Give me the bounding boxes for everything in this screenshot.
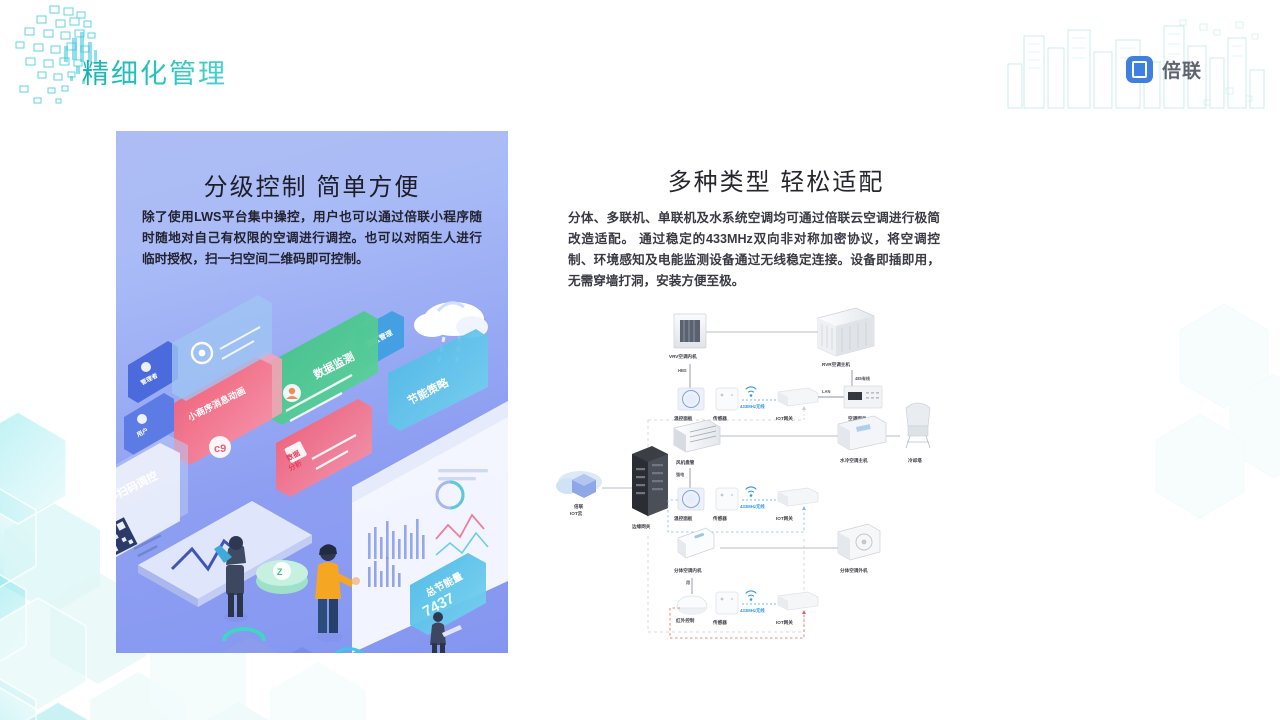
vrv-outdoor-unit: RVR空调主机 (818, 308, 874, 368)
right-panel-body: 分体、多联机、单联机及水系统空调均可通过倍联云空调进行极简改造适配。 通过稳定的… (568, 208, 940, 292)
split-indoor-unit: 分体空调内机 (674, 528, 714, 574)
fcu-iot-label: IOT网关 (776, 515, 793, 522)
brand-logo: 倍联 (1126, 56, 1202, 83)
split-wireless-label: 433MHz无线 (740, 607, 765, 614)
row-fcu: 风机盘管 水冷空调主机 冷却塔 强电 (668, 403, 930, 532)
cloud-label-line1: 倍联 (573, 503, 584, 510)
split-outdoor-label: 分体空调外机 (840, 567, 868, 574)
split-wireless: 433MHz无线 (740, 591, 782, 614)
cloud-node: 倍联 IOT云 (556, 471, 602, 517)
ir-controller: 红外控制 (676, 596, 707, 624)
split-sensor-label: 传感器 (712, 619, 727, 626)
split-sensor: 传感器 (712, 592, 738, 626)
edge-gateway-node: 边缘网关 (631, 446, 668, 530)
ac-gateway: 空调网关 (844, 386, 882, 422)
wired-485-label: 485有线 (855, 375, 871, 381)
vrv-outdoor-label: RVR空调主机 (822, 361, 850, 368)
lan-label: LAN (822, 389, 830, 394)
split-bus-label: 用 (685, 579, 690, 585)
vrv-sensor-label: 传感器 (712, 415, 727, 422)
vrv-iot-label: IOT网关 (776, 415, 793, 422)
fcu-bus-label: 强电 (676, 471, 685, 477)
chiller-label: 水冷空调主机 (840, 457, 868, 464)
slide-root: 精细化管理 倍联 分级控制 简单方便 除了使用LWS平台集中操控，用户也可以通过… (0, 0, 1280, 720)
square-logo-icon (1126, 56, 1153, 83)
vrv-indoor-unit: VRV空调内机 (669, 314, 706, 360)
split-outdoor-unit: 分体空调外机 (838, 524, 880, 574)
architecture-diagram: 倍联 IOT云 边缘网关 (556, 296, 956, 652)
svg-text:Z: Z (277, 567, 283, 577)
cooling-tower: 冷却塔 (906, 403, 930, 464)
fcu-panel-label: 温控面板 (674, 515, 693, 522)
brand-name: 倍联 (1162, 56, 1202, 83)
vrv-indoor-label: VRV空调内机 (669, 353, 697, 360)
svg-text:c9: c9 (214, 443, 226, 455)
isometric-illustration: 总节能量 7437 节能策略 园区管理 (116, 281, 508, 653)
cooling-tower-label: 冷却塔 (908, 457, 922, 464)
vrv-wireless-label: 433MHz无线 (740, 403, 765, 410)
page-title: 精细化管理 (82, 52, 227, 91)
vrv-panel-label: 温控面板 (674, 415, 693, 422)
left-card-heading: 分级控制 简单方便 (116, 167, 508, 202)
wifi-icon (332, 649, 362, 653)
smart-speaker-device: Z (256, 560, 308, 594)
hbs-label: HBS (678, 368, 687, 373)
vrv-wireless: 433MHz无线 (740, 387, 782, 410)
vrv-thermostat: 温控面板 (674, 388, 704, 422)
fcu-unit: 风机盘管 (674, 420, 720, 466)
row-split: 分体空调内机 分体空调外机 用 红外控制 传感器 (670, 524, 880, 638)
hexagon-decoration-right (1060, 290, 1280, 590)
ir-controller-label: 红外控制 (676, 617, 695, 624)
vrv-sensor: 传感器 (712, 388, 738, 422)
edge-gateway-label: 边缘网关 (631, 523, 651, 530)
cloud-label-line2: IOT云 (570, 510, 583, 517)
vrv-iot-gateway: IOT网关 (776, 388, 818, 422)
fcu-iot-gateway: IOT网关 (776, 488, 818, 522)
fcu-wireless: 433MHz无线 (740, 487, 782, 510)
left-card-body: 除了使用LWS平台集中操控，用户也可以通过倍联小程序随时随地对自己有权限的空调进… (142, 207, 482, 270)
fcu-sensor-label: 传感器 (712, 515, 727, 522)
fcu-label: 风机盘管 (676, 459, 695, 466)
slide-header: 精细化管理 倍联 (0, 0, 1280, 120)
right-panel-heading: 多种类型 轻松适配 (566, 162, 986, 197)
fcu-sensor: 传感器 (712, 488, 738, 522)
row-vrv: VRV空调内机 RVR空调主机 HBS 485有线 (669, 308, 882, 422)
split-indoor-label: 分体空调内机 (674, 567, 702, 574)
split-iot-gateway: IOT网关 (776, 592, 818, 626)
split-iot-label: IOT网关 (776, 619, 793, 626)
fcu-wireless-label: 433MHz无线 (740, 503, 765, 510)
left-feature-card: 分级控制 简单方便 除了使用LWS平台集中操控，用户也可以通过倍联小程序随时随地… (116, 131, 508, 653)
fcu-thermostat: 温控面板 (674, 488, 704, 522)
water-chiller: 水冷空调主机 (838, 416, 886, 464)
